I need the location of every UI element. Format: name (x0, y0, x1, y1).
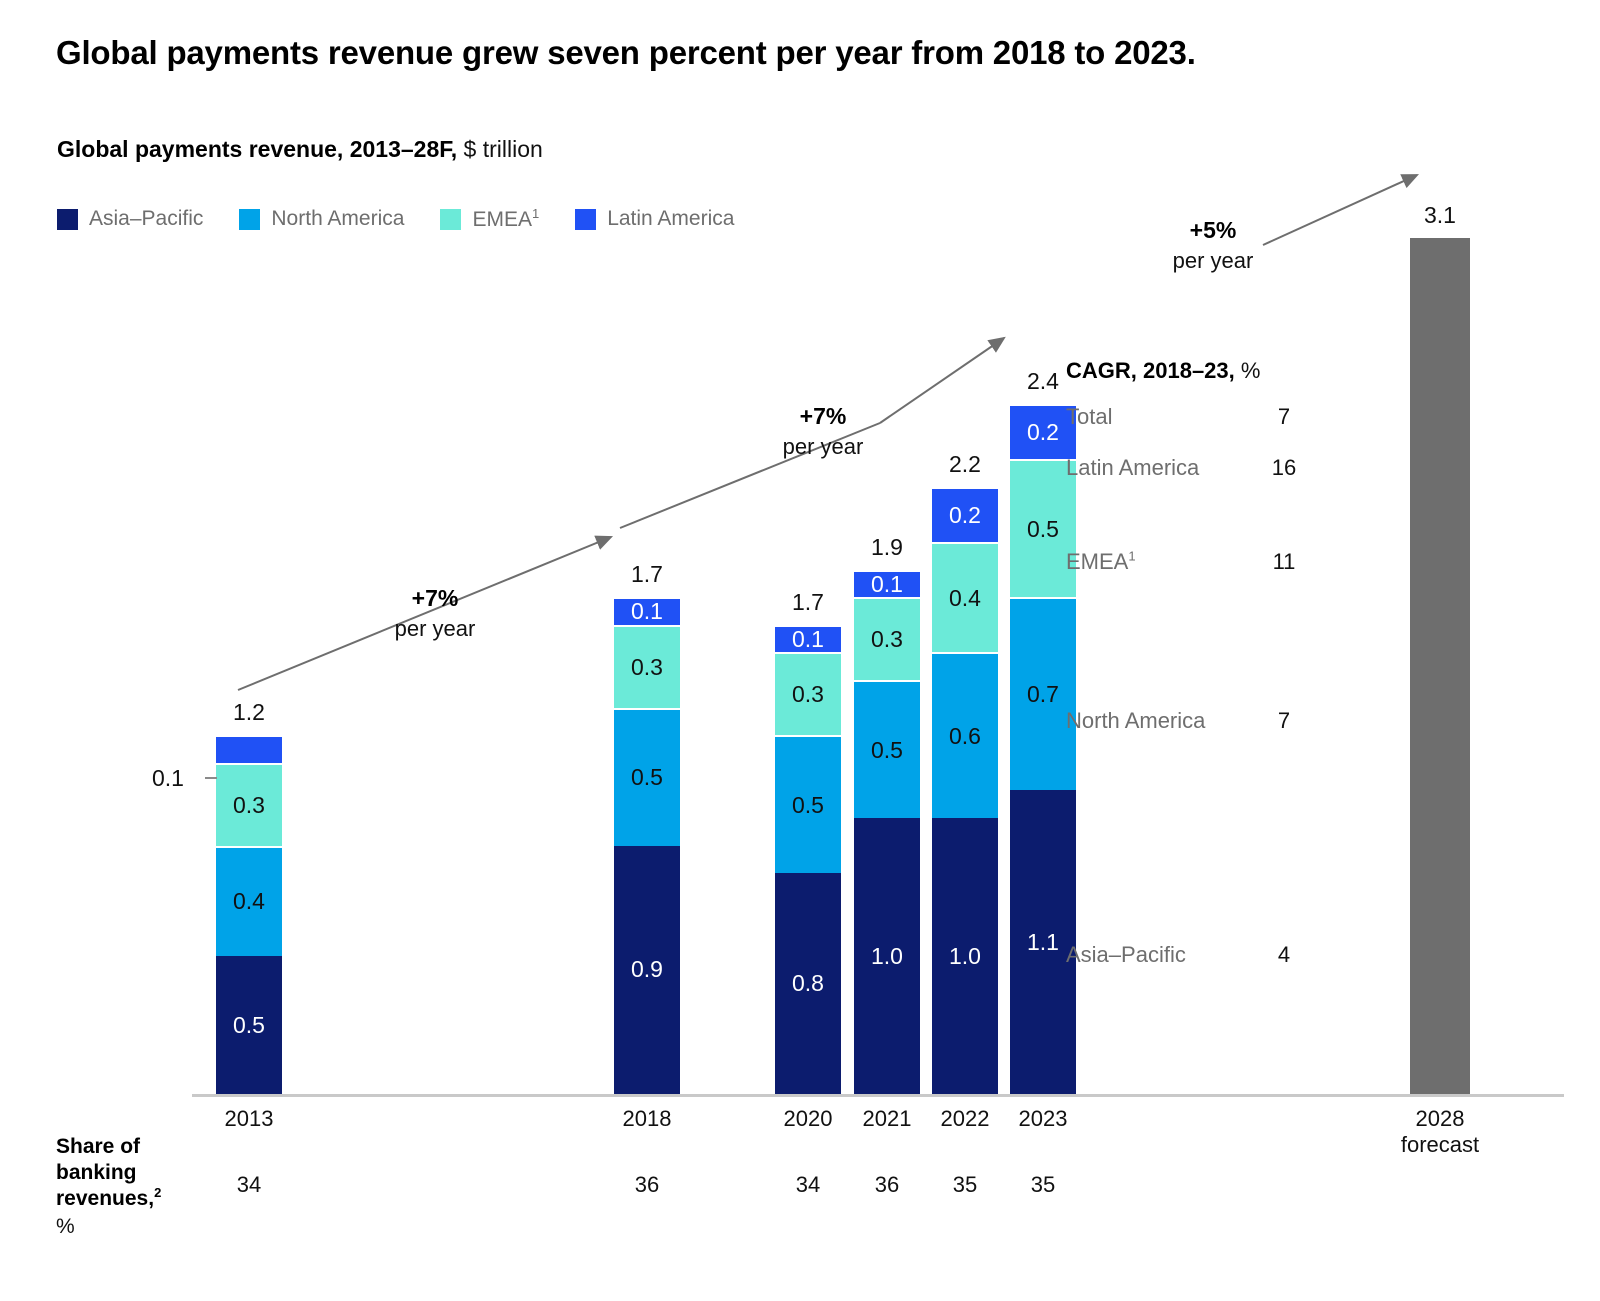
x-axis-tick-label: 2023 (988, 1106, 1098, 1132)
cagr-header: CAGR, 2018–23, % (1066, 358, 1260, 384)
x-axis-tick-line1: 2028 (1416, 1106, 1465, 1131)
bar-segment-value: 0.3 (233, 794, 265, 817)
share-label-footnote-marker: 2 (154, 1185, 161, 1200)
bar-segment[interactable]: 0.3 (775, 652, 841, 735)
cagr-row-name: Asia–Pacific (1066, 942, 1186, 967)
bar-segment-value: 0.2 (949, 504, 981, 527)
share-of-banking-label: Share of banking revenues,2 % (56, 1134, 196, 1239)
cagr-row-value: 4 (1264, 942, 1304, 968)
bar-segment-value: 0.1 (871, 573, 903, 596)
bar-segment-value: 0.7 (1027, 683, 1059, 706)
bar-segment[interactable]: 0.7 (1010, 597, 1076, 790)
bar-segment[interactable]: 0.3 (216, 763, 282, 846)
cagr-footnote-marker: 1 (1128, 549, 1135, 564)
bar-total-label: 2.2 (932, 451, 998, 478)
bar-segment[interactable]: 0.1 (854, 570, 920, 598)
plot-area: 0.50.40.30.11.20.90.50.30.11.70.80.50.30… (0, 0, 1600, 1301)
bar-segment-value: 0.5 (233, 1014, 265, 1037)
cagr-row: EMEA1 (1066, 549, 1296, 575)
bar-segment-value: 0.3 (871, 628, 903, 651)
cagr-row: Asia–Pacific (1066, 942, 1296, 968)
bar-total-label: 1.9 (854, 534, 920, 561)
callout-2013-latin-america: 0.1 (152, 765, 184, 792)
bar-segment[interactable]: 0.2 (932, 487, 998, 542)
chart-root: Global payments revenue grew seven perce… (0, 0, 1600, 1301)
bar-segment-value: 0.5 (792, 794, 824, 817)
bar-segment[interactable]: 1.0 (932, 818, 998, 1094)
growth-annotation: +5%per year (1113, 217, 1313, 274)
bar-segment[interactable]: 0.1 (216, 735, 282, 763)
growth-annotation-pct: +7% (723, 403, 923, 430)
cagr-row-value: 7 (1264, 708, 1304, 734)
share-of-banking-value: 36 (592, 1172, 702, 1198)
x-axis-tick-line1: 2022 (941, 1106, 990, 1131)
bar-total-label: 1.7 (775, 589, 841, 616)
bar-segment-value: 0.3 (631, 656, 663, 679)
x-axis-tick-line1: 2021 (863, 1106, 912, 1131)
bar-segment-value: 0.8 (792, 972, 824, 995)
bar-segment-value: 0.1 (631, 600, 663, 623)
x-axis-tick-line2: forecast (1385, 1132, 1495, 1158)
growth-annotation: +7%per year (335, 585, 535, 642)
bar-segment[interactable]: 0.9 (614, 846, 680, 1094)
share-label-line3-text: revenues, (56, 1187, 154, 1210)
bar-segment-value: 0.5 (631, 766, 663, 789)
growth-annotation-pct: +5% (1113, 217, 1313, 244)
x-axis-tick-label: 2013 (194, 1106, 304, 1132)
bar-segment-value: 0.9 (631, 958, 663, 981)
bar-segment[interactable]: 0.5 (854, 680, 920, 818)
x-axis-tick-line1: 2018 (623, 1106, 672, 1131)
x-axis-tick-line1: 2013 (225, 1106, 274, 1131)
bar-segment-value: 0.1 (792, 628, 824, 651)
x-axis-tick-label: 2018 (592, 1106, 702, 1132)
share-label-line3: revenues,2 (56, 1187, 161, 1210)
bar-segment-value: 0.5 (871, 739, 903, 762)
cagr-header-strong: CAGR, 2018–23, (1066, 358, 1235, 383)
share-label-unit: % (56, 1214, 196, 1240)
cagr-row-name: EMEA1 (1066, 549, 1136, 574)
bar-segment-value: 0.6 (949, 725, 981, 748)
bar-segment-value: 0.4 (233, 890, 265, 913)
bar-segment-value: 0.2 (1027, 421, 1059, 444)
bar-segment-value: 1.0 (949, 945, 981, 968)
share-of-banking-value: 34 (194, 1172, 304, 1198)
growth-annotation-period: per year (1113, 248, 1313, 274)
growth-annotation-period: per year (723, 434, 923, 460)
cagr-row-name: Latin America (1066, 455, 1199, 480)
cagr-row: North America (1066, 708, 1296, 734)
share-of-banking-value: 35 (988, 1172, 1098, 1198)
callout-leader-line (205, 777, 217, 779)
x-axis-tick-line1: 2020 (784, 1106, 833, 1131)
bar-segment[interactable]: 0.1 (614, 597, 680, 625)
growth-annotation-period: per year (335, 616, 535, 642)
bar-total-label: 1.7 (614, 561, 680, 588)
bar-segment[interactable]: 0.3 (614, 625, 680, 708)
bar-segment[interactable]: 0.5 (775, 735, 841, 873)
bar-segment[interactable]: 1.0 (854, 818, 920, 1094)
growth-annotation: +7%per year (723, 403, 923, 460)
bar-forecast-2028[interactable] (1410, 238, 1470, 1094)
bar-segment[interactable]: 0.8 (775, 873, 841, 1094)
bar-segment-value: 1.1 (1027, 931, 1059, 954)
bar-segment[interactable]: 0.1 (775, 625, 841, 653)
x-axis-tick-label: 2028forecast (1385, 1106, 1495, 1158)
x-axis-tick-line1: 2023 (1019, 1106, 1068, 1131)
bar-segment[interactable]: 0.3 (854, 597, 920, 680)
x-axis-line (192, 1094, 1564, 1097)
cagr-row-value: 16 (1264, 455, 1304, 481)
share-label-line2: banking (56, 1161, 137, 1184)
bar-segment-value: 0.4 (949, 587, 981, 610)
bar-segment[interactable]: 0.6 (932, 652, 998, 818)
bar-segment-value: 0.5 (1027, 518, 1059, 541)
cagr-row: Total (1066, 404, 1296, 430)
cagr-row-value: 7 (1264, 404, 1304, 430)
bar-segment[interactable]: 0.5 (216, 956, 282, 1094)
bar-total-label: 1.2 (216, 699, 282, 726)
cagr-row-value: 11 (1264, 549, 1304, 575)
growth-annotation-pct: +7% (335, 585, 535, 612)
bar-segment[interactable]: 0.4 (932, 542, 998, 652)
bar-segment[interactable]: 0.5 (614, 708, 680, 846)
cagr-row-name: North America (1066, 708, 1205, 733)
bar-segment-value: 0.3 (792, 683, 824, 706)
cagr-row: Latin America (1066, 455, 1296, 481)
bar-segment-value: 1.0 (871, 945, 903, 968)
bar-total-label: 3.1 (1407, 202, 1473, 229)
cagr-header-light: % (1235, 358, 1261, 383)
share-label-line1: Share of (56, 1135, 140, 1158)
cagr-row-name: Total (1066, 404, 1112, 429)
bar-segment[interactable]: 0.4 (216, 846, 282, 956)
